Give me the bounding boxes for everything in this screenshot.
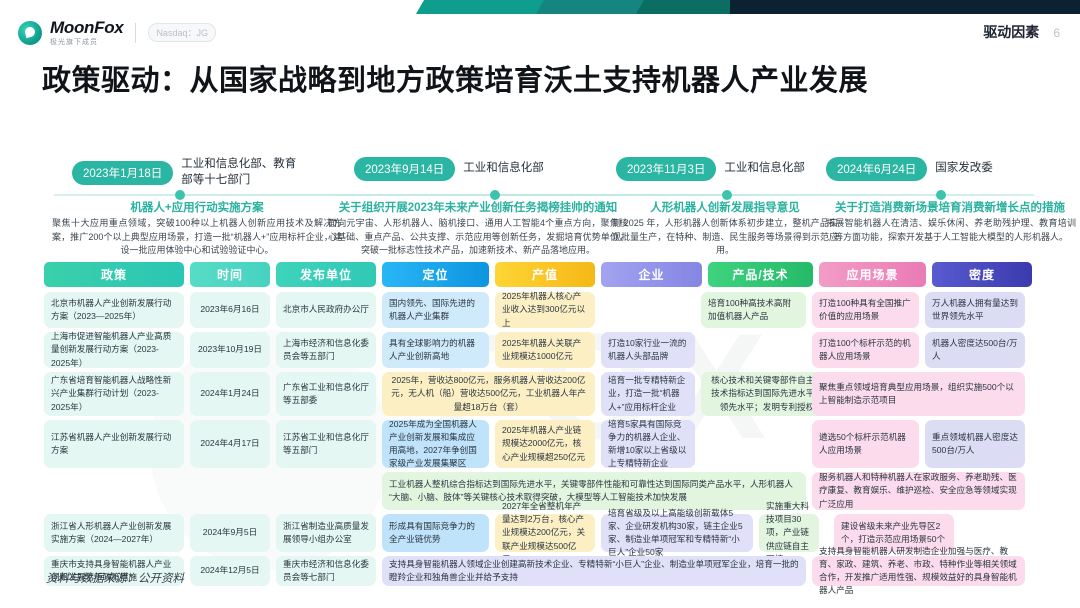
table-cell-position[interactable]: 具有全球影响力的机器人产业创新高地	[382, 332, 489, 368]
table-cell-enterprise[interactable]: 培育5家具有国际竞争力的机器人企业、新增10家以上省级以上专精特新企业	[601, 420, 695, 468]
policy-table: 政策 时间 发布单位 定位 产值 企业 产品/技术 应用场景 密度 北京市机器人…	[44, 262, 1040, 584]
table-cell-time[interactable]: 2024年4月17日	[190, 420, 270, 468]
timeline-policy-name-0: 机器人+应用行动实施方案	[52, 199, 342, 215]
table-cell-output[interactable]: 2025年机器人关联产业规模达1000亿元	[495, 332, 595, 368]
column-header-time: 时间	[190, 262, 270, 287]
table-cell-scene[interactable]: 遴选50个标杆示范机器人应用场景	[812, 420, 919, 468]
table-row[interactable]: 工业机器人整机综合指标达到国际先进水平，关键零部件性能和可靠性达到国际同类产品水…	[382, 472, 806, 510]
timeline-head-3: 2024年6月24日 国家发改委	[826, 157, 1076, 181]
table-cell-output[interactable]: 2027年全省整机年产量达到2万台，核心产业规模达200亿元，关联产业规模达50…	[495, 514, 595, 552]
table-row[interactable]: 浙江省人形机器人产业创新发展实施方案（2024—2027年）	[44, 514, 184, 552]
table-cell-unit[interactable]: 广东省工业和信息化厅等五部委	[276, 372, 376, 416]
brand-text: MoonFox 极光旗下成员	[50, 19, 123, 46]
source-note: 资料与数据来源：公开资料	[46, 570, 184, 586]
table-cell-unit[interactable]: 重庆市经济和信息化委员会等七部门	[276, 556, 376, 586]
table-cell-enterprise[interactable]: 培育一批专精特新企业，打造一批“机器人+”应用标杆企业	[601, 372, 695, 416]
table-cell-time[interactable]: 2024年12月5日	[190, 556, 270, 586]
table-cell-unit[interactable]: 浙江省制造业高质量发展领导小组办公室	[276, 514, 376, 552]
timeline-rail	[54, 194, 1034, 196]
table-cell-scene[interactable]: 打造100种具有全国推广价值的应用场景	[812, 292, 919, 328]
brand-logo: MoonFox 极光旗下成员 Nasdaq：JG	[18, 19, 216, 46]
table-cell-unit[interactable]: 北京市人民政府办公厅	[276, 292, 376, 328]
timeline-desc-1: 面向元宇宙、人形机器人、脑机接口、通用人工智能4个重点方向，聚焦核心基础、重点产…	[328, 217, 628, 258]
timeline-org-1: 工业和信息化部	[463, 161, 544, 177]
column-header-scene: 应用场景	[819, 262, 926, 287]
table-cell-output[interactable]: 2025年机器人产业链规模达2000亿元，核心产业规模超250亿元	[495, 420, 595, 468]
column-header-unit: 发布单位	[276, 262, 376, 287]
table-row[interactable]: 广东省培育智能机器人战略性新兴产业集群行动计划（2023-2025年）	[44, 372, 184, 416]
table-cell-time[interactable]: 2023年10月19日	[190, 332, 270, 368]
column-header-position: 定位	[382, 262, 489, 287]
table-cell-scene[interactable]: 聚焦重点领域培育典型应用场景，组织实施500个以上智能制造示范项目	[812, 372, 1025, 416]
table-cell-time[interactable]: 2024年1月24日	[190, 372, 270, 416]
brand-subtitle: 极光旗下成员	[50, 39, 123, 46]
timeline-org-3: 国家发改委	[935, 161, 993, 177]
table-row[interactable]: 北京市机器人产业创新发展行动方案（2023—2025年）	[44, 292, 184, 328]
timeline-item-2[interactable]: 2023年11月3日 工业和信息化部 人形机器人创新发展指导意见 到 2025 …	[616, 157, 846, 181]
policy-timeline: 2023年1月18日 工业和信息化部、教育部等十七部门 机器人+应用行动实施方案…	[44, 157, 1044, 252]
logo-divider	[135, 23, 136, 43]
table-cell-output[interactable]: 2025年机器人核心产业收入达到300亿元以上	[495, 292, 595, 328]
table-cell-scene[interactable]: 支持具身智能机器人研发制造企业加强与医疗、教育、家政、建筑、养老、市政、特种作业…	[812, 556, 1025, 586]
timeline-desc-2: 到 2025 年，人形机器人创新体系初步建立，整机产品实现批量生产，在特种、制造…	[612, 217, 838, 258]
timeline-head-1: 2023年9月14日 工业和信息化部	[354, 157, 604, 181]
timeline-head-2: 2023年11月3日 工业和信息化部	[616, 157, 846, 181]
timeline-policy-name-1: 关于组织开展2023年未来产业创新任务揭榜挂帅的通知	[328, 199, 628, 215]
timeline-date-3: 2024年6月24日	[826, 157, 927, 181]
page-number: 6	[1053, 26, 1060, 40]
table-cell-scene[interactable]: 服务机器人和特种机器人在家政服务、养老助残、医疗康复、教育娱乐、维护巡检、安全应…	[812, 472, 1025, 510]
table-cell-unit[interactable]: 江苏省工业和信息化厅等五部门	[276, 420, 376, 468]
table-cell-enterprise[interactable]: 打造10家行业一流的机器人头部品牌	[601, 332, 695, 368]
table-cell-time[interactable]: 2023年6月16日	[190, 292, 270, 328]
nasdaq-badge: Nasdaq：JG	[148, 23, 216, 42]
table-cell-density[interactable]: 重点领域机器人密度达500台/万人	[925, 420, 1025, 468]
table-header-row: 政策 时间 发布单位 定位 产值 企业 产品/技术 应用场景 密度	[44, 262, 1040, 287]
table-cell-density[interactable]: 万人机器人拥有量达到世界领先水平	[925, 292, 1025, 328]
column-header-density: 密度	[932, 262, 1032, 287]
table-cell-enterprise[interactable]: 培育省级及以上高能级创新载体5家、企业研发机构30家，链主企业5家、制造业单项冠…	[601, 514, 753, 552]
moonfox-logo-icon	[18, 21, 42, 45]
table-cell-output[interactable]: 2025年，营收达800亿元，服务机器人营收达200亿元，无人机（船）营收达50…	[382, 372, 595, 416]
table-row[interactable]: 江苏省机器人产业创新发展行动方案	[44, 420, 184, 468]
timeline-desc-3: 拓展智能机器人在清洁、娱乐休闲、养老助残护理、教育培训等方面功能，探索开发基于人…	[826, 217, 1076, 244]
timeline-policy-name-3: 关于打造消费新场景培育消费新增长点的措施	[812, 199, 1080, 215]
band-segment-white	[0, 0, 440, 14]
table-cell-density[interactable]: 机器人密度达500台/万人	[925, 332, 1025, 368]
table-body: 北京市机器人产业创新发展行动方案（2023—2025年） 2023年6月16日 …	[44, 292, 1040, 584]
table-cell-product[interactable]: 培育100种高技术高附加值机器人产品	[701, 292, 806, 328]
band-segment-navy	[730, 0, 1080, 14]
table-cell-position[interactable]: 2025年成为全国机器人产业创新发展和集成应用高地，2027年争创国家级产业发展…	[382, 420, 489, 468]
timeline-org-0: 工业和信息化部、教育部等十七部门	[181, 157, 301, 188]
timeline-date-1: 2023年9月14日	[354, 157, 455, 181]
table-cell-position[interactable]: 国内领先、国际先进的机器人产业集群	[382, 292, 489, 328]
page-header: MoonFox 极光旗下成员 Nasdaq：JG 驱动因素 6	[0, 14, 1080, 56]
table-cell-position[interactable]: 形成具有国际竞争力的全产业链优势	[382, 514, 489, 552]
table-cell-scene[interactable]: 打造100个标杆示范的机器人应用场景	[812, 332, 919, 368]
page-title: 政策驱动：从国家战略到地方政策培育沃土支持机器人产业发展	[42, 62, 1002, 101]
timeline-desc-0: 聚焦十大应用重点领域，突破100种以上机器人创新应用技术及解决方案，推广200个…	[52, 217, 342, 258]
timeline-org-2: 工业和信息化部	[724, 161, 805, 177]
column-header-product: 产品/技术	[708, 262, 813, 287]
timeline-item-0[interactable]: 2023年1月18日 工业和信息化部、教育部等十七部门 机器人+应用行动实施方案…	[72, 157, 322, 188]
timeline-item-3[interactable]: 2024年6月24日 国家发改委 关于打造消费新场景培育消费新增长点的措施 拓展…	[826, 157, 1076, 181]
table-cell-product[interactable]: 实施重大科技项目30项，产业链供应链自主可控	[759, 514, 819, 552]
timeline-date-0: 2023年1月18日	[72, 161, 173, 185]
column-header-policy: 政策	[44, 262, 184, 287]
timeline-date-2: 2023年11月3日	[616, 157, 716, 181]
section-label: 驱动因素	[983, 22, 1039, 42]
table-cell-unit[interactable]: 上海市经济和信息化委员会等五部门	[276, 332, 376, 368]
table-cell-time[interactable]: 2024年9月5日	[190, 514, 270, 552]
top-decorative-band	[0, 0, 1080, 14]
column-header-output: 产值	[495, 262, 595, 287]
brand-name: MoonFox	[50, 19, 123, 36]
column-header-enterprise: 企业	[601, 262, 702, 287]
timeline-item-1[interactable]: 2023年9月14日 工业和信息化部 关于组织开展2023年未来产业创新任务揭榜…	[354, 157, 604, 181]
timeline-head-0: 2023年1月18日 工业和信息化部、教育部等十七部门	[72, 157, 322, 188]
table-row[interactable]: 上海市促进智能机器人产业高质量创新发展行动方案（2023-2025年）	[44, 332, 184, 368]
header-right: 驱动因素 6	[983, 22, 1060, 42]
table-cell-enterprise[interactable]: 支持具身智能机器人领域企业创建高新技术企业、专精特新“小巨人”企业、制造业单项冠…	[382, 556, 806, 586]
